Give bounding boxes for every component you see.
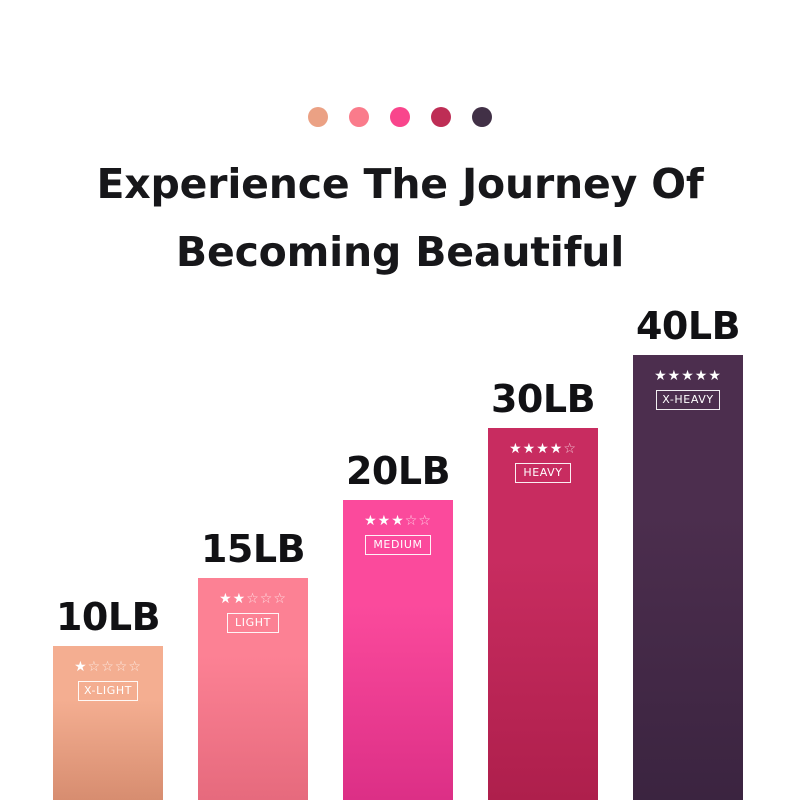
star-filled-icons: ★★★★★ — [654, 368, 722, 384]
bar-column[interactable]: ★★★☆☆MEDIUM — [343, 500, 453, 800]
star-filled-icons: ★★ — [219, 591, 246, 607]
bar-value-label: 15LB — [201, 527, 305, 571]
bar-content: ★★★★★X-HEAVY — [633, 369, 743, 410]
star-empty-icons: ☆☆☆☆ — [88, 659, 142, 675]
bar-fill — [488, 428, 598, 800]
bar-value-label: 30LB — [491, 377, 595, 421]
star-rating-icon: ★★☆☆☆ — [219, 592, 287, 606]
bar-content: ★★☆☆☆LIGHT — [198, 592, 308, 633]
status-badge: X-LIGHT — [78, 681, 138, 701]
bar-content: ★☆☆☆☆X-LIGHT — [53, 660, 163, 701]
bar-column[interactable]: ★☆☆☆☆X-LIGHT — [53, 646, 163, 800]
star-empty-icons: ☆ — [563, 441, 577, 457]
status-badge: HEAVY — [515, 463, 570, 483]
bar-group-x-heavy[interactable]: 40LB★★★★★X-HEAVY — [633, 355, 743, 800]
bar-group-medium[interactable]: 20LB★★★☆☆MEDIUM — [343, 500, 453, 800]
product-infographic-poster: Experience The Journey Of Becoming Beaut… — [0, 0, 800, 800]
star-filled-icons: ★★★ — [364, 513, 405, 529]
bar-content: ★★★☆☆MEDIUM — [343, 514, 453, 555]
bar-value-label: 40LB — [636, 304, 740, 348]
bar-group-light[interactable]: 15LB★★☆☆☆LIGHT — [198, 578, 308, 800]
bar-column[interactable]: ★★★★☆HEAVY — [488, 428, 598, 800]
star-rating-icon: ★☆☆☆☆ — [74, 660, 142, 674]
star-filled-icons: ★★★★ — [509, 441, 563, 457]
bar-value-label: 20LB — [346, 449, 450, 493]
bar-value-label: 10LB — [56, 595, 160, 639]
star-rating-icon: ★★★★★ — [654, 369, 722, 383]
bar-content: ★★★★☆HEAVY — [488, 442, 598, 483]
star-filled-icons: ★ — [74, 659, 88, 675]
status-badge: MEDIUM — [365, 535, 430, 555]
bar-fill — [633, 355, 743, 800]
status-badge: X-HEAVY — [656, 390, 719, 410]
bar-group-heavy[interactable]: 30LB★★★★☆HEAVY — [488, 428, 598, 800]
resistance-level-bar-chart: 10LB★☆☆☆☆X-LIGHT15LB★★☆☆☆LIGHT20LB★★★☆☆M… — [0, 0, 800, 800]
star-empty-icons: ☆☆☆ — [246, 591, 287, 607]
bar-column[interactable]: ★★☆☆☆LIGHT — [198, 578, 308, 800]
star-rating-icon: ★★★☆☆ — [364, 514, 432, 528]
bar-group-x-light[interactable]: 10LB★☆☆☆☆X-LIGHT — [53, 646, 163, 800]
star-rating-icon: ★★★★☆ — [509, 442, 577, 456]
bar-column[interactable]: ★★★★★X-HEAVY — [633, 355, 743, 800]
status-badge: LIGHT — [227, 613, 279, 633]
star-empty-icons: ☆☆ — [405, 513, 432, 529]
